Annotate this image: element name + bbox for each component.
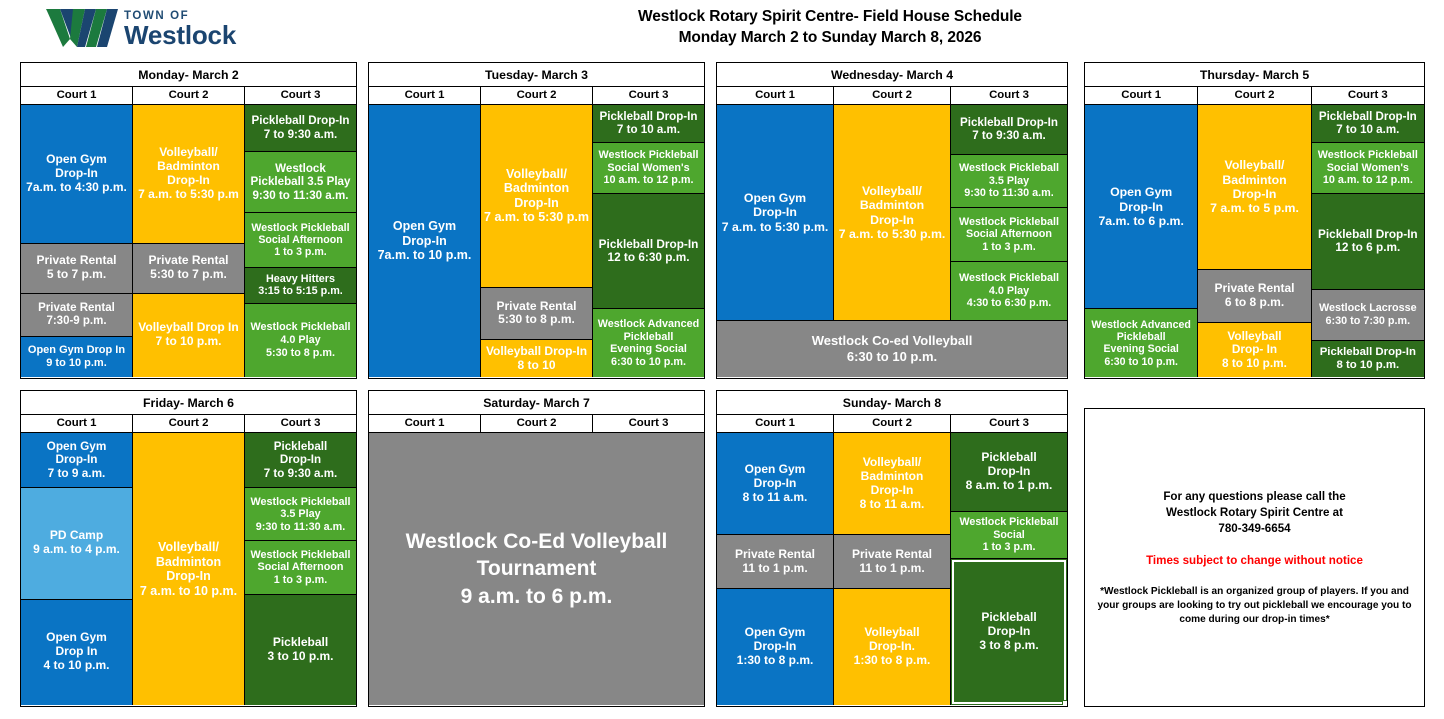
event-line: Open Gym (718, 463, 832, 477)
event-line: Drop-In (370, 234, 479, 249)
day-title: Thursday- March 5 (1085, 63, 1424, 87)
schedule-event[interactable]: Westlock PickleballSocial Women's10 a.m.… (1312, 143, 1424, 195)
court-column-2: Volleyball/BadmintonDrop-In7 a.m. to 5:3… (481, 105, 593, 377)
event-line: 7 to 9 a.m. (22, 467, 131, 481)
event-line: 3.5 Play (952, 175, 1066, 188)
logo-name-text: Westlock (124, 22, 274, 49)
event-line: 6:30 to 10 p.m. (594, 356, 703, 369)
court-header-3: Court 3 (593, 87, 704, 104)
court-header-2: Court 2 (481, 415, 593, 432)
event-line: Social (952, 529, 1066, 541)
event-line: Pickleball Drop-In (594, 110, 703, 123)
event-line: 7a.m. to 10 p.m. (370, 248, 479, 263)
event-line: Volleyball Drop-In 8 to 10 (482, 345, 591, 373)
court-columns: Open GymDrop-In7 to 9 a.m.PD Camp9 a.m. … (21, 433, 356, 705)
schedule-event[interactable]: VolleyballDrop- In8 to 10 p.m. (1198, 323, 1310, 377)
event-line: Open Gym (1086, 185, 1196, 199)
event-line: Social Women's (594, 162, 703, 175)
event-line: 3:15 to 5:15 p.m. (246, 285, 355, 298)
event-line: Westlock Pickleball (952, 516, 1066, 528)
court-column-2: Volleyball/BadmintonDrop-In7 a.m. to 10 … (133, 433, 245, 705)
event-line: 7 a.m. to 5:30 p.m (482, 210, 591, 225)
event-line: Open Gym (718, 191, 832, 205)
info-line-2: Westlock Rotary Spirit Centre at (1166, 505, 1343, 521)
event-line: Drop-In (246, 453, 355, 466)
event-line: Westlock Co-Ed Volleyball (406, 528, 668, 555)
day-block-wednesday: Wednesday- March 4Court 1Court 2Court 3O… (716, 62, 1068, 379)
event-line: Drop-In (22, 167, 131, 181)
event-line: Drop-In (835, 213, 949, 227)
schedule-event[interactable]: Pickleball Drop-In7 to 9:30 a.m. (245, 105, 356, 152)
event-line: 10 a.m. to 12 p.m. (594, 174, 703, 187)
event-line: 5:30 to 8 p.m. (482, 313, 591, 327)
event-line: 5:30 to 7 p.m. (134, 268, 243, 282)
court-column-3: PickleballDrop-In7 to 9:30 a.m.Westlock … (245, 433, 356, 705)
event-line: Westlock Pickleball (246, 496, 355, 509)
event-line: Drop-In (1086, 200, 1196, 214)
event-line: 7 to 9:30 a.m. (246, 467, 355, 480)
event-line: Drop-In (134, 174, 243, 188)
schedule-event[interactable]: Open Gym Drop In9 to 10 p.m. (21, 337, 132, 377)
schedule-event[interactable]: Volleyball Drop-In 8 to 10 (481, 340, 592, 377)
event-line: 7 to 10 p.m. (134, 335, 243, 349)
day-block-friday: Friday- March 6Court 1Court 2Court 3Open… (20, 390, 357, 707)
event-line: 6 to 8 p.m. (1199, 296, 1309, 310)
event-line: 8 to 11 a.m. (835, 498, 949, 512)
event-line: Private Rental (835, 548, 949, 562)
event-line: Drop-In (718, 477, 832, 491)
court-header-row: Court 1Court 2Court 3 (717, 87, 1067, 105)
event-line: Westlock Co-ed Volleyball (812, 333, 973, 349)
event-line: 7:30-9 p.m. (22, 315, 131, 328)
schedule-event[interactable]: Westlock PickleballSocial Afternoon1 to … (245, 213, 356, 268)
schedule-event[interactable]: Private Rental11 to 1 p.m. (717, 535, 833, 588)
court-column-3: Pickleball Drop-In7 to 9:30 a.m.Westlock… (951, 105, 1067, 320)
court-columns: Open GymDrop-In7a.m. to 4:30 p.m.Private… (21, 105, 356, 377)
event-line: 7 to 9:30 a.m. (246, 128, 355, 141)
event-line: Westlock Lacrosse (1313, 302, 1423, 315)
schedule-event[interactable]: Open GymDrop-In7a.m. to 4:30 p.m. (21, 105, 132, 244)
schedule-event[interactable]: Westlock Pickleball4.0 Play4:30 to 6:30 … (951, 262, 1067, 320)
event-line: 7 a.m. to 5:30 p.m. (718, 220, 832, 234)
court-header-row: Court 1Court 2Court 3 (21, 415, 356, 433)
event-line: 9 to 10 p.m. (22, 357, 131, 370)
event-line: Drop-In (1199, 187, 1309, 201)
schedule-event[interactable]: Open GymDrop-In7a.m. to 10 p.m. (369, 105, 480, 377)
event-line: 1 to 3 p.m. (246, 246, 355, 258)
event-line: Pickleball Drop-In (1313, 228, 1423, 242)
event-line: Westlock Pickleball (246, 549, 355, 562)
event-line: Drop-In (718, 640, 832, 654)
event-line: 8 a.m. to 1 p.m. (952, 479, 1066, 493)
schedule-event[interactable]: PickleballDrop-In7 to 9:30 a.m. (245, 433, 356, 488)
event-line: Pickleball 3.5 Play (246, 175, 355, 188)
day-block-tuesday: Tuesday- March 3Court 1Court 2Court 3Ope… (368, 62, 705, 379)
event-line: Volleyball (1199, 330, 1309, 344)
event-line: Badminton (1199, 173, 1309, 187)
court-header-2: Court 2 (834, 415, 951, 432)
event-line: Pickleball Drop-In (1313, 110, 1423, 123)
event-line: Pickleball Drop-In (246, 114, 355, 127)
schedule-event[interactable]: Pickleball3 to 10 p.m. (245, 595, 356, 705)
schedule-event[interactable]: Westlock Lacrosse6:30 to 7:30 p.m. (1312, 290, 1424, 342)
schedule-event[interactable]: Volleyball/BadmintonDrop-In7 a.m. to 5:3… (133, 105, 244, 244)
schedule-event[interactable]: Private Rental7:30-9 p.m. (21, 294, 132, 338)
event-line: Badminton (134, 555, 243, 570)
day-block-thursday: Thursday- March 5Court 1Court 2Court 3Op… (1084, 62, 1425, 379)
court-header-2: Court 2 (133, 87, 245, 104)
event-line: Westlock Pickleball (246, 321, 355, 334)
westlock-w-logo-icon (46, 9, 118, 47)
event-line: 4.0 Play (246, 334, 355, 347)
pickleball-note: *Westlock Pickleball is an organized gro… (1085, 585, 1424, 627)
event-line: Volleyball/ (134, 146, 243, 160)
event-line: Evening Social (594, 343, 703, 356)
schedule-event[interactable]: Pickleball Drop-In7 to 10 a.m. (593, 105, 704, 143)
event-line: Westlock Pickleball (952, 272, 1066, 285)
info-line-1: For any questions please call the (1163, 489, 1345, 505)
event-line: 7 a.m. to 5:30 p.m (134, 188, 243, 202)
schedule-event[interactable]: Volleyball/BadmintonDrop-In7 a.m. to 5:3… (481, 105, 592, 288)
event-line: Open Gym (22, 631, 131, 645)
court-header-2: Court 2 (133, 415, 245, 432)
logo-wordmark: TOWN OF Westlock (124, 6, 274, 50)
event-line: Evening Social (1086, 343, 1196, 355)
court-column-1: Open GymDrop-In8 to 11 a.m.Private Renta… (717, 433, 834, 705)
event-line: 7a.m. to 4:30 p.m. (22, 181, 131, 195)
schedule-event[interactable]: Volleyball/BadmintonDrop-In7 a.m. to 10 … (133, 433, 244, 705)
court-column-1: Open GymDrop-In7 a.m. to 5:30 p.m. (717, 105, 834, 320)
event-line: Westlock (246, 162, 355, 175)
court-column-2: Volleyball/BadmintonDrop-In7 a.m. to 5 p… (1198, 105, 1311, 377)
event-line: Westlock Advanced (1086, 319, 1196, 331)
event-line: Pickleball (952, 451, 1066, 465)
event-line: Open Gym Drop In (22, 344, 131, 357)
schedule-event[interactable]: Westlock Pickleball3.5 Play9:30 to 11:30… (245, 488, 356, 541)
schedule-event[interactable]: Westlock PickleballSocial1 to 3 p.m. (951, 512, 1067, 559)
event-line: 9 a.m. to 4 p.m. (22, 543, 131, 557)
schedule-event[interactable]: Westlock Pickleball3.5 Play9:30 to 11:30… (951, 155, 1067, 209)
event-line: Private Rental (1199, 282, 1309, 296)
event-line: Drop- In (1199, 343, 1309, 357)
court-header-3: Court 3 (245, 87, 356, 104)
event-line: Volleyball/ (1199, 158, 1309, 172)
event-line: Westlock Advanced (594, 318, 703, 331)
court-header-3: Court 3 (593, 415, 704, 432)
event-line: Pickleball (1086, 331, 1196, 343)
event-line: 4:30 to 6:30 p.m. (952, 297, 1066, 310)
schedule-event[interactable]: PickleballDrop-In3 to 8 p.m. (951, 559, 1067, 705)
day-block-sunday: Sunday- March 8Court 1Court 2Court 3Open… (716, 390, 1068, 707)
event-line: Drop-In (482, 196, 591, 211)
event-line: Drop-In. (835, 640, 949, 654)
event-line: 6:30 to 7:30 p.m. (1313, 315, 1423, 328)
court-header-1: Court 1 (717, 87, 834, 104)
event-line: Volleyball/ (835, 184, 949, 198)
event-line: Drop-In (718, 205, 832, 219)
event-line: 11 to 1 p.m. (718, 562, 832, 576)
event-line: Private Rental (718, 548, 832, 562)
schedule-event[interactable]: Open GymDrop In4 to 10 p.m. (21, 600, 132, 705)
event-line: 4.0 Play (952, 285, 1066, 298)
event-line: 7 to 9:30 a.m. (952, 129, 1066, 142)
schedule-event[interactable]: Pickleball Drop-In8 to 10 p.m. (1312, 341, 1424, 377)
page-header: TOWN OF Westlock Westlock Rotary Spirit … (0, 0, 1444, 62)
event-line: Open Gym (370, 219, 479, 234)
schedule-event[interactable]: Volleyball Drop In7 to 10 p.m. (133, 294, 244, 377)
times-subject-to-change-notice: Times subject to change without notice (1146, 553, 1363, 569)
event-line: Pickleball Drop-In (1313, 346, 1423, 359)
event-line: Private Rental (22, 254, 131, 268)
event-line: 11 to 1 p.m. (835, 562, 949, 576)
event-line: Open Gym (22, 440, 131, 454)
schedule-event[interactable]: Volleyball/BadmintonDrop-In7 a.m. to 5:3… (834, 105, 950, 320)
schedule-event[interactable]: Volleyball/BadmintonDrop-In8 to 11 a.m. (834, 433, 950, 535)
event-line: 8 to 11 a.m. (718, 491, 832, 505)
event-line: Drop-In (134, 569, 243, 584)
event-line: Drop In (22, 645, 131, 659)
court-column-1: Open GymDrop-In7a.m. to 4:30 p.m.Private… (21, 105, 133, 377)
court-header-1: Court 1 (21, 415, 133, 432)
town-of-westlock-logo: TOWN OF Westlock (46, 6, 231, 52)
day-block-monday: Monday- March 2Court 1Court 2Court 3Open… (20, 62, 357, 379)
event-line: Pickleball Drop-In (952, 116, 1066, 129)
title-line-2: Monday March 2 to Sunday March 8, 2026 (470, 27, 1190, 48)
schedule-event[interactable]: PickleballDrop-In8 a.m. to 1 p.m. (951, 433, 1067, 512)
event-line: Volleyball/ (134, 540, 243, 555)
event-line: Heavy Hitters (246, 273, 355, 286)
schedule-event[interactable]: Westlock PickleballSocial Women's10 a.m.… (593, 143, 704, 195)
event-line: Private Rental (482, 300, 591, 314)
event-line: 9:30 to 11:30 a.m. (246, 521, 355, 534)
event-line: 9 a.m. to 6 p.m. (461, 583, 613, 610)
event-line: Private Rental (22, 302, 131, 315)
schedule-event[interactable]: Private Rental5 to 7 p.m. (21, 244, 132, 294)
event-line: Social Afternoon (952, 228, 1066, 241)
event-line: 7 a.m. to 5 p.m. (1199, 201, 1309, 215)
schedule-event[interactable]: VolleyballDrop-In.1:30 to 8 p.m. (834, 589, 950, 705)
court-column-2: Volleyball/BadmintonDrop-In7 a.m. to 5:3… (834, 105, 951, 320)
schedule-event[interactable]: Open GymDrop-In7a.m. to 6 p.m. (1085, 105, 1197, 309)
court-header-1: Court 1 (717, 415, 834, 432)
event-line: Westlock Pickleball (952, 216, 1066, 229)
schedule-event[interactable]: Open GymDrop-In8 to 11 a.m. (717, 433, 833, 535)
merged-event-footer[interactable]: Westlock Co-ed Volleyball6:30 to 10 p.m. (717, 320, 1067, 377)
event-line: Volleyball (835, 626, 949, 640)
court-column-2: Volleyball/BadmintonDrop-In8 to 11 a.m.P… (834, 433, 951, 705)
court-header-row: Court 1Court 2Court 3 (21, 87, 356, 105)
court-header-2: Court 2 (834, 87, 951, 104)
schedule-event[interactable]: Westlock AdvancedPickleballEvening Socia… (1085, 309, 1197, 377)
event-line: Tournament (477, 555, 597, 582)
court-header-1: Court 1 (369, 87, 481, 104)
event-line: Badminton (134, 160, 243, 174)
page-title: Westlock Rotary Spirit Centre- Field Hou… (470, 6, 1190, 48)
event-line: 1 to 3 p.m. (952, 541, 1066, 553)
event-line: 1:30 to 8 p.m. (835, 654, 949, 668)
cell-fill-handle[interactable] (1062, 700, 1067, 705)
event-line: Volleyball/ (835, 456, 949, 470)
court-column-1: Open GymDrop-In7 to 9 a.m.PD Camp9 a.m. … (21, 433, 133, 705)
event-line: 9:30 to 11:30 a.m. (246, 189, 355, 202)
court-columns: Open GymDrop-In8 to 11 a.m.Private Renta… (717, 433, 1067, 705)
court-header-1: Court 1 (1085, 87, 1198, 104)
court-header-2: Court 2 (481, 87, 593, 104)
event-line: Drop-In (835, 484, 949, 498)
court-header-2: Court 2 (1198, 87, 1311, 104)
event-line: Open Gym (718, 626, 832, 640)
event-line: Pickleball (594, 331, 703, 344)
court-header-3: Court 3 (951, 415, 1067, 432)
event-line: 7 to 10 a.m. (594, 123, 703, 136)
title-line-1: Westlock Rotary Spirit Centre- Field Hou… (470, 6, 1190, 27)
event-line: 12 to 6:30 p.m. (594, 251, 703, 265)
event-line: 1 to 3 p.m. (952, 241, 1066, 254)
event-line: Social Women's (1313, 162, 1423, 175)
court-header-row: Court 1Court 2Court 3 (369, 87, 704, 105)
court-column-3: Pickleball Drop-In7 to 9:30 a.m.Westlock… (245, 105, 356, 377)
court-column-3: Pickleball Drop-In7 to 10 a.m.Westlock P… (593, 105, 704, 377)
schedule-event[interactable]: Pickleball Drop-In12 to 6 p.m. (1312, 194, 1424, 289)
event-line: Pickleball (246, 440, 355, 453)
event-line: 8 to 10 p.m. (1313, 359, 1423, 372)
schedule-event[interactable]: Pickleball Drop-In7 to 9:30 a.m. (951, 105, 1067, 155)
day-title: Saturday- March 7 (369, 391, 704, 415)
event-line: Westlock Pickleball (246, 222, 355, 234)
event-line: 6:30 to 10 p.m. (1086, 356, 1196, 368)
event-line: Social Afternoon (246, 561, 355, 574)
schedule-event[interactable]: Private Rental11 to 1 p.m. (834, 535, 950, 588)
event-line: Volleyball/ (482, 167, 591, 182)
schedule-event[interactable]: Pickleball Drop-In7 to 10 a.m. (1312, 105, 1424, 143)
court-header-1: Court 1 (21, 87, 133, 104)
schedule-event[interactable]: Open GymDrop-In1:30 to 8 p.m. (717, 589, 833, 705)
court-header-3: Court 3 (951, 87, 1067, 104)
schedule-event[interactable]: Volleyball/BadmintonDrop-In7 a.m. to 5 p… (1198, 105, 1310, 270)
info-phone-number: 780-349-6654 (1218, 521, 1290, 537)
event-line: Pickleball (246, 636, 355, 650)
event-line: Drop-In (952, 625, 1066, 639)
schedule-event[interactable]: Private Rental5:30 to 7 p.m. (133, 244, 244, 294)
court-columns: Open GymDrop-In7a.m. to 10 p.m.Volleybal… (369, 105, 704, 377)
event-line: Westlock Pickleball (594, 149, 703, 162)
schedule-event[interactable]: WestlockPickleball 3.5 Play9:30 to 11:30… (245, 152, 356, 214)
schedule-event[interactable]: Open GymDrop-In7 a.m. to 5:30 p.m. (717, 105, 833, 320)
court-header-3: Court 3 (245, 415, 356, 432)
event-line: 7 a.m. to 5:30 p.m. (835, 227, 949, 241)
event-line: 9:30 to 11:30 a.m. (952, 187, 1066, 200)
court-header-3: Court 3 (1312, 87, 1424, 104)
event-line: Open Gym (22, 153, 131, 167)
schedule-event[interactable]: Private Rental5:30 to 8 p.m. (481, 288, 592, 341)
event-line: 1:30 to 8 p.m. (718, 654, 832, 668)
event-line: Volleyball Drop In (134, 321, 243, 335)
event-line: Drop-In (952, 465, 1066, 479)
event-line: 1 to 3 p.m. (246, 574, 355, 587)
event-line: 5 to 7 p.m. (22, 268, 131, 282)
schedule-event[interactable]: Open GymDrop-In7 to 9 a.m. (21, 433, 132, 488)
event-line: 7 a.m. to 10 p.m. (134, 584, 243, 599)
day-title: Monday- March 2 (21, 63, 356, 87)
event-line: 3 to 10 p.m. (246, 650, 355, 664)
court-header-row: Court 1Court 2Court 3 (1085, 87, 1424, 105)
schedule-event[interactable]: Private Rental6 to 8 p.m. (1198, 270, 1310, 324)
event-line: Westlock Pickleball (952, 162, 1066, 175)
schedule-event[interactable]: Westlock AdvancedPickleballEvening Socia… (593, 309, 704, 377)
day-title: Sunday- March 8 (717, 391, 1067, 415)
schedule-event[interactable]: PD Camp9 a.m. to 4 p.m. (21, 488, 132, 599)
event-line: 4 to 10 p.m. (22, 659, 131, 673)
event-line: Private Rental (134, 254, 243, 268)
event-line: Pickleball (952, 611, 1066, 625)
day-title: Wednesday- March 4 (717, 63, 1067, 87)
event-line: 8 to 10 p.m. (1199, 357, 1309, 371)
schedule-event[interactable]: Heavy Hitters3:15 to 5:15 p.m. (245, 268, 356, 304)
schedule-event[interactable]: Westlock PickleballSocial Afternoon1 to … (951, 208, 1067, 262)
event-line: 6:30 to 10 p.m. (847, 349, 937, 365)
schedule-event[interactable]: Pickleball Drop-In12 to 6:30 p.m. (593, 194, 704, 309)
event-line: 7 to 10 a.m. (1313, 123, 1423, 136)
day-title: Friday- March 6 (21, 391, 356, 415)
event-line: 3.5 Play (246, 508, 355, 521)
schedule-event[interactable]: Westlock PickleballSocial Afternoon1 to … (245, 541, 356, 594)
court-column-3: PickleballDrop-In8 a.m. to 1 p.m.Westloc… (951, 433, 1067, 705)
court-column-1: Open GymDrop-In7a.m. to 6 p.m.Westlock A… (1085, 105, 1198, 377)
day-block-saturday: Saturday- March 7Court 1Court 2Court 3We… (368, 390, 705, 707)
event-line: PD Camp (22, 529, 131, 543)
day-title: Tuesday- March 3 (369, 63, 704, 87)
event-line: Social Afternoon (246, 234, 355, 246)
info-box: For any questions please call the Westlo… (1084, 408, 1425, 707)
event-line: Pickleball Drop-In (594, 238, 703, 252)
court-columns: Open GymDrop-In7 a.m. to 5:30 p.m.Volley… (717, 105, 1067, 320)
event-line: Drop-In (22, 453, 131, 467)
event-line: 10 a.m. to 12 p.m. (1313, 174, 1423, 187)
event-line: 12 to 6 p.m. (1313, 241, 1423, 255)
event-line: 3 to 8 p.m. (952, 639, 1066, 653)
court-column-2: Volleyball/BadmintonDrop-In7 a.m. to 5:3… (133, 105, 245, 377)
court-column-1: Open GymDrop-In7a.m. to 10 p.m. (369, 105, 481, 377)
merged-event-all-courts[interactable]: Westlock Co-Ed VolleyballTournament9 a.m… (369, 433, 704, 705)
court-columns: Open GymDrop-In7a.m. to 6 p.m.Westlock A… (1085, 105, 1424, 377)
event-line: 5:30 to 8 p.m. (246, 347, 355, 360)
court-column-3: Pickleball Drop-In7 to 10 a.m.Westlock P… (1312, 105, 1424, 377)
event-line: Badminton (482, 181, 591, 196)
court-header-row: Court 1Court 2Court 3 (717, 415, 1067, 433)
event-line: Badminton (835, 470, 949, 484)
court-header-1: Court 1 (369, 415, 481, 432)
event-line: Badminton (835, 198, 949, 212)
event-line: 7a.m. to 6 p.m. (1086, 214, 1196, 228)
event-line: Westlock Pickleball (1313, 149, 1423, 162)
court-header-row: Court 1Court 2Court 3 (369, 415, 704, 433)
schedule-event[interactable]: Westlock Pickleball4.0 Play5:30 to 8 p.m… (245, 304, 356, 377)
